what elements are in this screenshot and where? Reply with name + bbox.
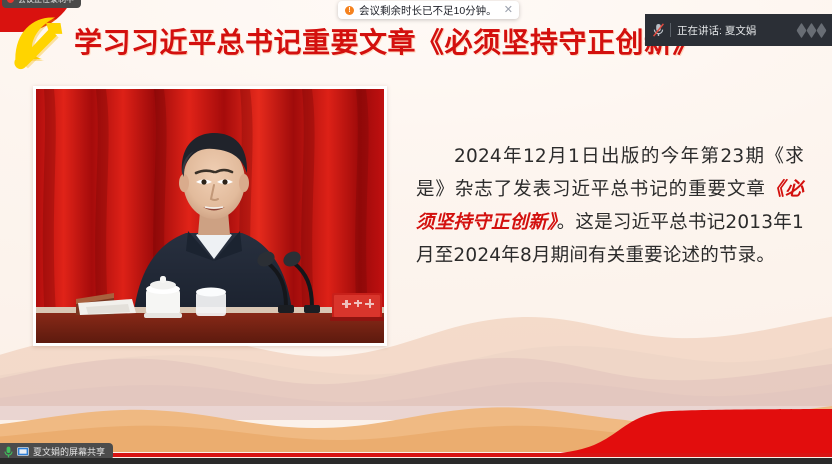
bottom-red-rule (0, 453, 832, 457)
letterbox-bar (0, 458, 832, 464)
toast-message: 会议剩余时长已不足10分钟。 (359, 3, 497, 18)
screen-share-icon[interactable] (17, 447, 29, 457)
speaker-name: 夏文娟 (725, 25, 757, 37)
record-dot-icon (7, 0, 14, 3)
slide-body-text: 2024年12月1日出版的今年第23期《求是》杂志了发表习近平总书记的重要文章《… (416, 140, 804, 272)
body-part-1: 2024年12月1日出版的今年第23期《求是》杂志了发表习近平总书记的重要文章 (416, 146, 804, 200)
microphone-muted-icon (653, 23, 664, 37)
red-swoosh-decoration (532, 409, 832, 455)
close-icon[interactable]: ✕ (504, 5, 513, 16)
photo-frame (33, 86, 387, 346)
screen-share-label: 夏文娟的屏幕共享 (33, 445, 105, 458)
slide-title: 学习习近平总书记重要文章《必须坚持守正创新》 (74, 29, 701, 57)
microphone-on-icon[interactable] (4, 446, 13, 458)
active-speaker-strip[interactable]: 正在讲话: 夏文娟 (645, 14, 832, 46)
shared-slide: 学习习近平总书记重要文章《必须坚持守正创新》 (0, 0, 832, 458)
screen: 学习习近平总书记重要文章《必须坚持守正创新》 (0, 0, 832, 464)
xi-jinping-speech-photo (36, 89, 384, 343)
strip-divider (670, 23, 671, 37)
speaking-prefix: 正在讲话: (677, 25, 722, 37)
warning-icon: ! (345, 6, 354, 15)
recording-status-label: 会议正在录制中 (18, 0, 74, 5)
audio-wave-icon (797, 26, 826, 35)
speaker-status-label: 正在讲话: 夏文娟 (677, 23, 791, 38)
meeting-time-toast[interactable]: ! 会议剩余时长已不足10分钟。 ✕ (338, 1, 519, 19)
recording-status-badge[interactable]: 会议正在录制中 (2, 0, 81, 8)
